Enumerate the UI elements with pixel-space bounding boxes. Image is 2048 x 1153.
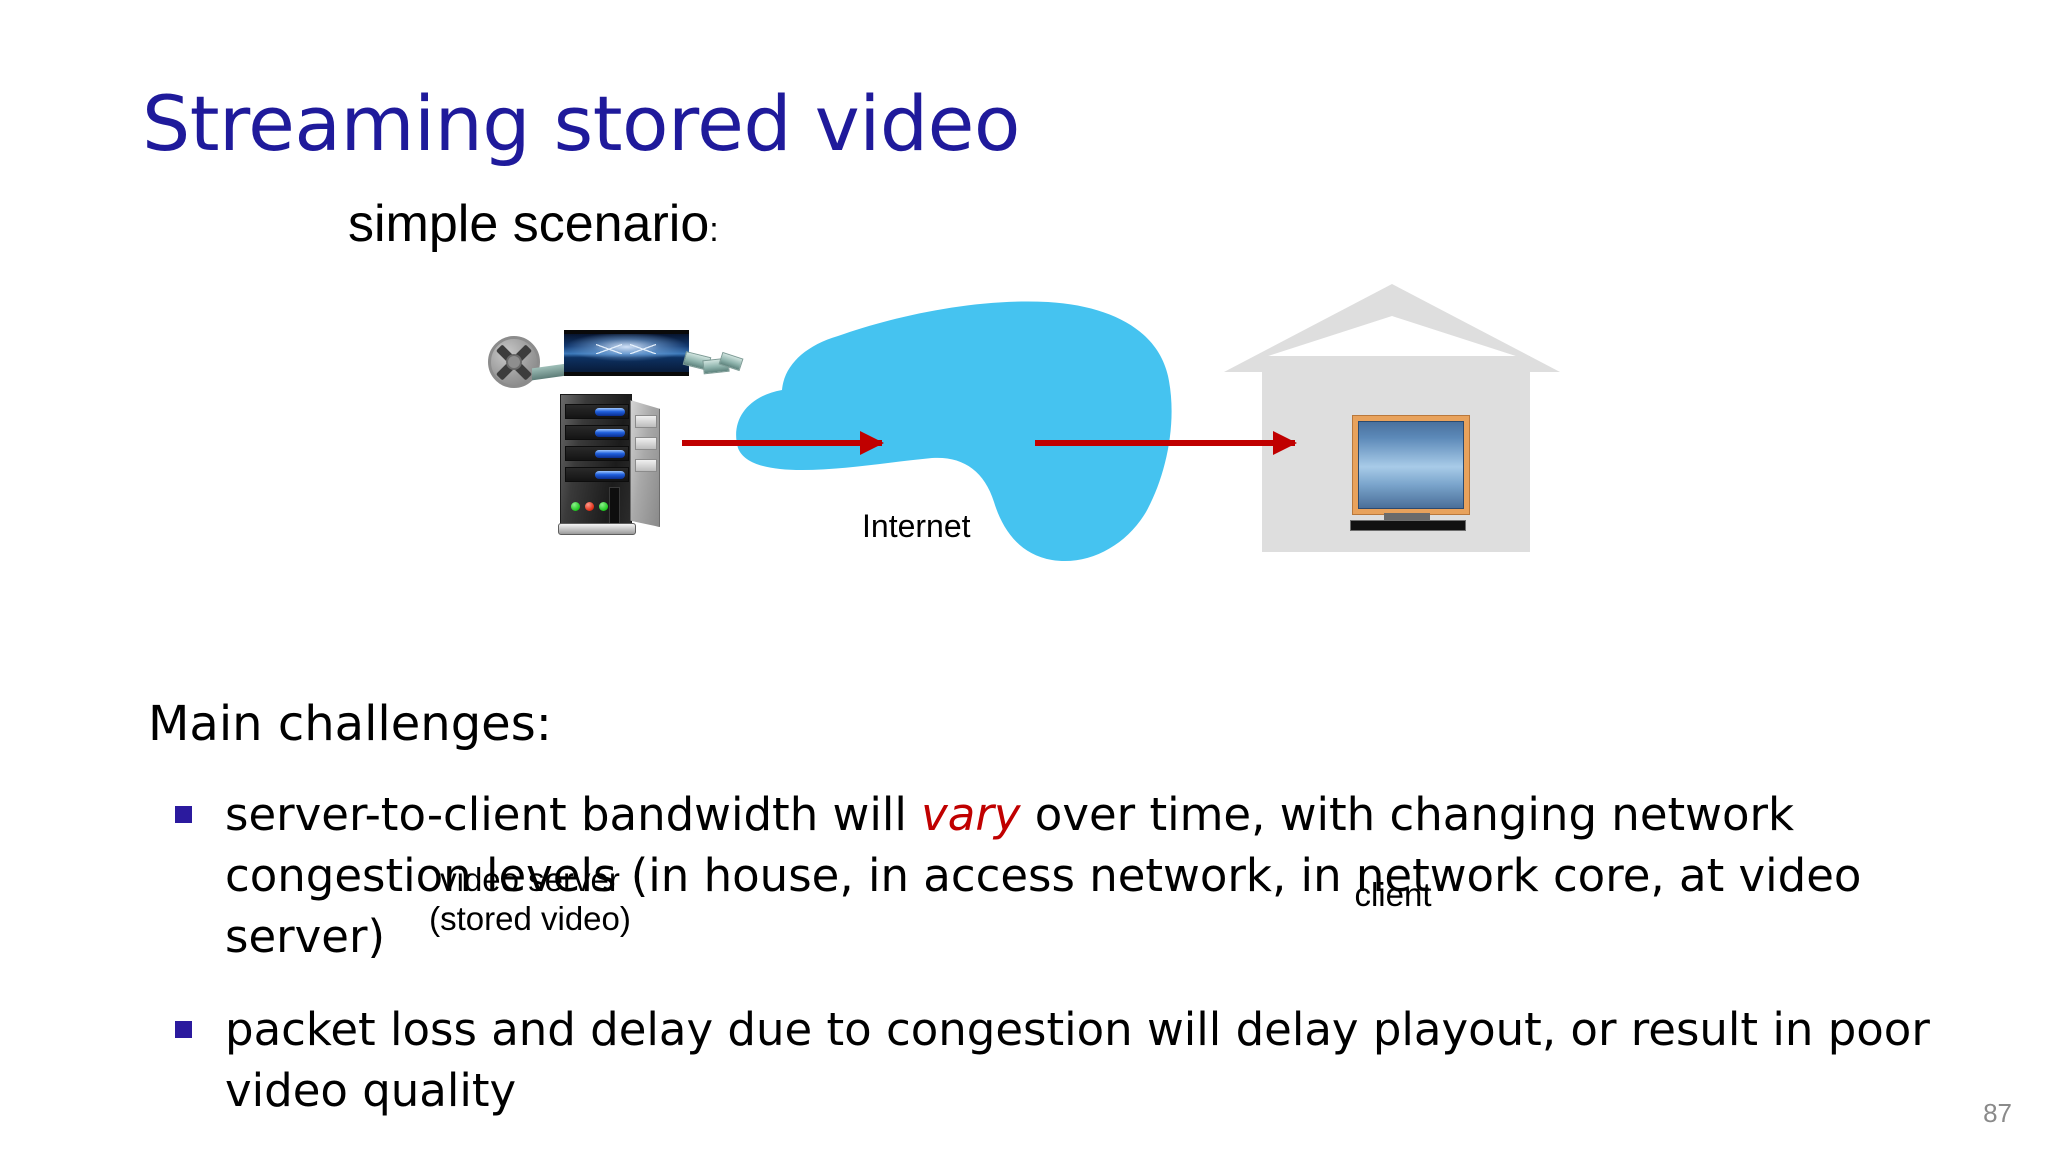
server-status-led-red-icon <box>585 502 594 511</box>
main-challenges-heading: Main challenges: <box>148 696 552 752</box>
filmstrip-icon <box>684 352 740 380</box>
scenario-heading-label: simple scenario <box>348 195 709 253</box>
film-frame-bird-icon <box>596 344 622 354</box>
server-status-led-green-icon <box>571 502 580 511</box>
scenario-heading: simple scenario: <box>348 196 719 258</box>
monitor-screen <box>1358 421 1464 509</box>
server-vent <box>635 459 657 472</box>
bullet-text: server-to-client bandwidth will vary ove… <box>225 788 1861 963</box>
network-diagram: Internet <box>0 280 2048 680</box>
list-item: packet loss and delay due to congestion … <box>175 999 1975 1121</box>
server-vent <box>635 415 657 428</box>
page-title: Streaming stored video <box>142 82 1020 166</box>
server-drive-bay <box>565 467 629 482</box>
server-base <box>558 523 636 535</box>
server-bay-led-icon <box>595 429 625 437</box>
server-status-led-green-icon <box>599 502 608 511</box>
internet-cloud-label: Internet <box>862 508 971 545</box>
client-monitor-icon <box>1352 415 1470 515</box>
bullet-square-icon <box>175 1021 192 1038</box>
monitor-stand <box>1350 520 1466 531</box>
server-drive-bay <box>565 446 629 461</box>
client-house-icon <box>1222 280 1562 580</box>
bullet-square-icon <box>175 806 192 823</box>
server-bay-led-icon <box>595 408 625 416</box>
challenges-bullet-list: server-to-client bandwidth will vary ove… <box>175 784 1975 1153</box>
server-bay-led-icon <box>595 471 625 479</box>
bullet-text: packet loss and delay due to congestion … <box>225 1003 1930 1117</box>
server-vent <box>635 437 657 450</box>
arrow-server-to-internet <box>682 440 882 446</box>
scenario-heading-colon: : <box>709 211 718 249</box>
list-item: server-to-client bandwidth will vary ove… <box>175 784 1975 967</box>
server-optical-slot <box>609 487 620 525</box>
slide-canvas: Streaming stored video simple scenario: … <box>0 0 2048 1147</box>
page-number: 87 <box>1983 1098 2012 1129</box>
film-reel-hub-icon <box>506 354 522 370</box>
arrow-internet-to-client <box>1035 440 1295 446</box>
film-frame-bird-icon <box>630 344 656 354</box>
server-bay-led-icon <box>595 450 625 458</box>
film-cluster <box>488 330 728 394</box>
server-side-panel <box>630 400 660 527</box>
server-drive-bay <box>565 404 629 419</box>
server-drive-bay <box>565 425 629 440</box>
server-front-panel <box>560 394 632 527</box>
video-server-tower-icon <box>560 392 666 537</box>
film-frame-icon <box>564 330 689 376</box>
